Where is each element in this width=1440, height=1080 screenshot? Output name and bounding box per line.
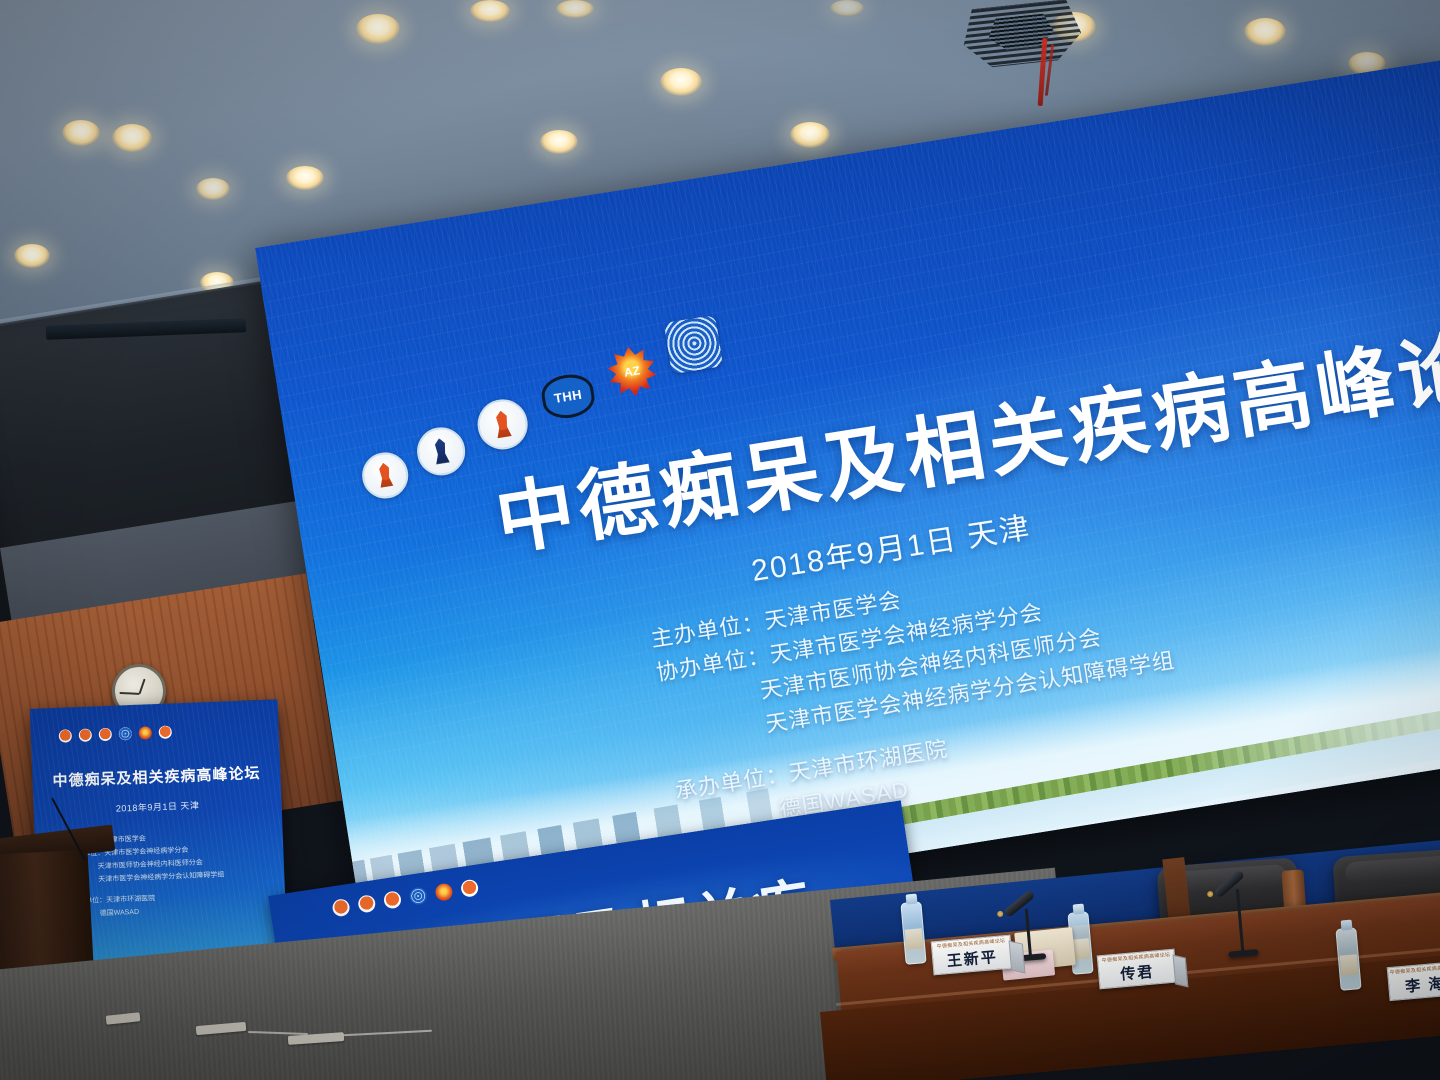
front-logo-3-icon: [383, 890, 402, 909]
front-logo-2-icon: [357, 894, 376, 913]
front-logo-az-icon: [434, 882, 453, 901]
ceiling-downlight: [1244, 18, 1286, 46]
front-logo-6-icon: [460, 879, 479, 898]
banner-logo-3-icon: [99, 728, 112, 741]
medical-association-emblem-3-icon: [474, 396, 531, 453]
name-plate: 中德痴呆及相关疾病高峰论坛 传君: [1097, 949, 1178, 990]
name-plate-name: 李 海: [1404, 972, 1440, 996]
ceiling-downlight: [62, 120, 100, 146]
ceiling-downlight: [556, 0, 594, 18]
name-plate: 中德痴呆及相关疾病高峰论坛 李 海: [1387, 961, 1440, 1001]
ceiling-downlight: [540, 130, 578, 154]
banner-logo-2-icon: [79, 729, 92, 742]
name-plate-name: 王新平: [946, 946, 999, 971]
thh-hospital-logo-label: THH: [553, 387, 583, 406]
banner-logo-spiral-icon: [119, 727, 132, 740]
ceiling-downlight: [470, 0, 510, 22]
name-plate: 中德痴呆及相关疾病高峰论坛 王新平: [931, 935, 1014, 976]
ceiling-downlight: [356, 14, 400, 44]
name-plate-name: 传君: [1119, 961, 1155, 985]
az-starburst-logo-icon: AZ: [603, 343, 660, 400]
ceiling-downlight: [286, 166, 324, 190]
banner-logo-1-icon: [59, 729, 72, 742]
name-plate-side: [1173, 955, 1189, 988]
ceiling-downlight: [14, 244, 50, 268]
medical-association-emblem-2-icon: [414, 424, 469, 479]
front-logo-spiral-icon: [409, 886, 428, 905]
ceiling-downlight: [112, 124, 152, 152]
conference-hall-scene: THHAZ 中德痴呆及相关疾病高峰论坛 2018年9月1日 天津 主办单位：天津…: [0, 0, 1440, 1080]
ceiling-downlight: [830, 0, 864, 16]
ceiling-downlight: [790, 122, 830, 148]
blue-spiral-logo-icon: [664, 315, 723, 374]
ceiling-downlight: [196, 178, 230, 200]
front-logo-1-icon: [331, 898, 350, 917]
banner-logo-6-icon: [159, 725, 172, 738]
ceiling-downlight: [660, 68, 702, 96]
name-plate-side: [1009, 940, 1026, 973]
thh-hospital-logo-icon: THH: [539, 371, 597, 421]
banner-logo-az-icon: [139, 726, 152, 739]
az-starburst-logo-label: AZ: [623, 363, 641, 379]
